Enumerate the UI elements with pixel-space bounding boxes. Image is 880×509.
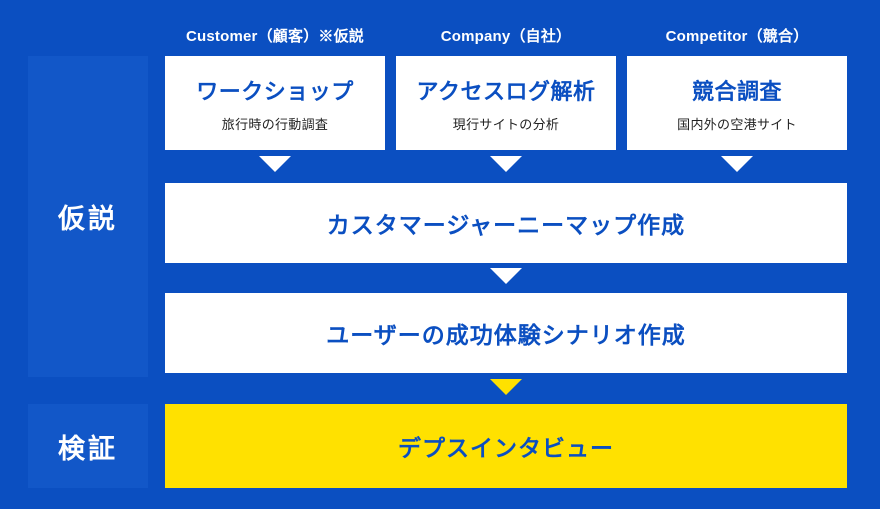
step-box-customer-journey-map: カスタマージャーニーマップ作成 (165, 183, 847, 263)
arrow-down-icon-scenario-to-interview (490, 379, 522, 395)
column-header-competitor: Competitor（競合） (627, 26, 847, 48)
step-box-success-scenario: ユーザーの成功体験シナリオ作成 (165, 293, 847, 373)
step-box-depth-interview-title: デプスインタビュー (398, 429, 614, 463)
arrow-down-icon-competitor (721, 156, 753, 172)
column-header-customer: Customer（顧客）※仮説 (165, 26, 385, 48)
source-box-competitor-research: 競合調査 国内外の空港サイト (627, 56, 847, 150)
step-box-success-scenario-title: ユーザーの成功体験シナリオ作成 (326, 316, 686, 350)
source-box-competitor-research-subtitle: 国内外の空港サイト (677, 114, 797, 133)
source-box-access-log: アクセスログ解析 現行サイトの分析 (396, 56, 616, 150)
source-box-workshop: ワークショップ 旅行時の行動調査 (165, 56, 385, 150)
column-header-company: Company（自社） (396, 26, 616, 48)
stage-label-hypothesis: 仮説 (28, 56, 148, 377)
source-box-competitor-research-title: 競合調査 (692, 74, 782, 106)
arrow-down-icon-journey-to-scenario (490, 268, 522, 284)
stage-label-validation: 検証 (28, 404, 148, 488)
arrow-down-icon-customer (259, 156, 291, 172)
source-box-access-log-title: アクセスログ解析 (417, 74, 596, 106)
source-box-workshop-title: ワークショップ (196, 74, 354, 106)
source-box-access-log-subtitle: 現行サイトの分析 (453, 114, 559, 133)
diagram-canvas: Customer（顧客）※仮説 Company（自社） Competitor（競… (0, 0, 880, 509)
source-box-workshop-subtitle: 旅行時の行動調査 (222, 114, 328, 133)
step-box-customer-journey-map-title: カスタマージャーニーマップ作成 (327, 206, 685, 240)
step-box-depth-interview: デプスインタビュー (165, 404, 847, 488)
arrow-down-icon-company (490, 156, 522, 172)
